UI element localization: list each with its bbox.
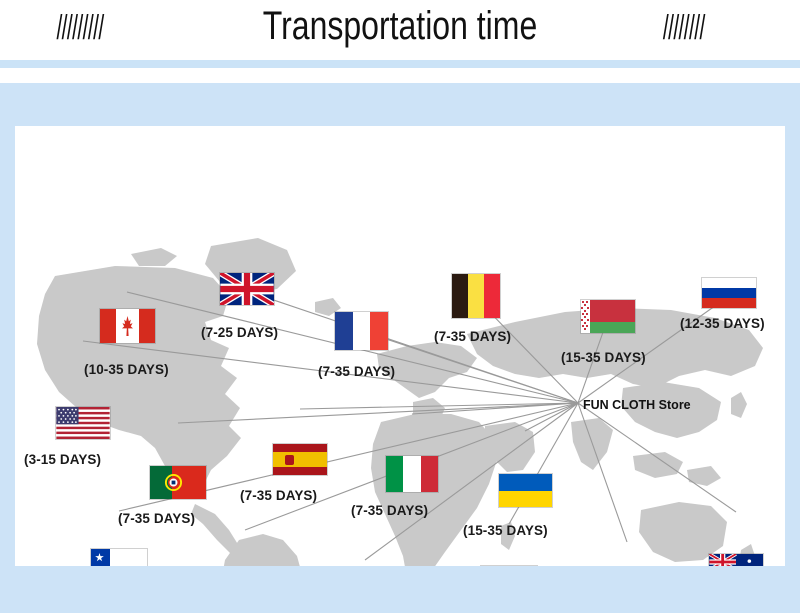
- flag-belarus: [581, 300, 635, 333]
- days-label-belarus: (15-35 DAYS): [561, 350, 646, 365]
- header-gap: [0, 68, 800, 83]
- page-title: Transportation time: [80, 4, 720, 49]
- world-map: [15, 126, 785, 566]
- days-label-france: (7-35 DAYS): [318, 364, 395, 379]
- title-row: ///////// Transportation time ////////: [0, 0, 800, 60]
- days-label-portugal: (7-35 DAYS): [118, 511, 195, 526]
- days-label-spain: (7-35 DAYS): [240, 488, 317, 503]
- days-label-canada: (10-35 DAYS): [84, 362, 169, 377]
- days-label-russia: (12-35 DAYS): [680, 316, 765, 331]
- map-canvas: FUN CLOTH Store: [15, 126, 785, 566]
- flag-belgium: [452, 274, 500, 318]
- flag-australia: [709, 554, 763, 566]
- days-label-ukraine: (15-35 DAYS): [463, 523, 548, 538]
- flag-france: [335, 312, 388, 350]
- flag-canada: [100, 309, 155, 343]
- flag-portugal: [150, 466, 206, 499]
- header: ///////// Transportation time ////////: [0, 0, 800, 60]
- flag-chile: [91, 549, 147, 566]
- flag-uk: [220, 273, 274, 305]
- blue-frame: FUN CLOTH Store: [0, 83, 800, 613]
- transportation-time-banner: ///////// Transportation time ////////: [0, 0, 800, 613]
- hub-store-label: FUN CLOTH Store: [583, 398, 691, 412]
- decorative-slashes-right: ////////: [663, 9, 705, 48]
- days-label-belgium: (7-35 DAYS): [434, 329, 511, 344]
- flag-russia: [702, 278, 756, 308]
- days-label-usa: (3-15 DAYS): [24, 452, 101, 467]
- flag-italy: [386, 456, 438, 492]
- days-label-uk: (7-25 DAYS): [201, 325, 278, 340]
- flag-ukraine: [499, 474, 552, 507]
- flag-spain: [273, 444, 327, 475]
- header-divider: [0, 60, 800, 68]
- flag-usa: [56, 407, 110, 439]
- days-label-italy: (7-35 DAYS): [351, 503, 428, 518]
